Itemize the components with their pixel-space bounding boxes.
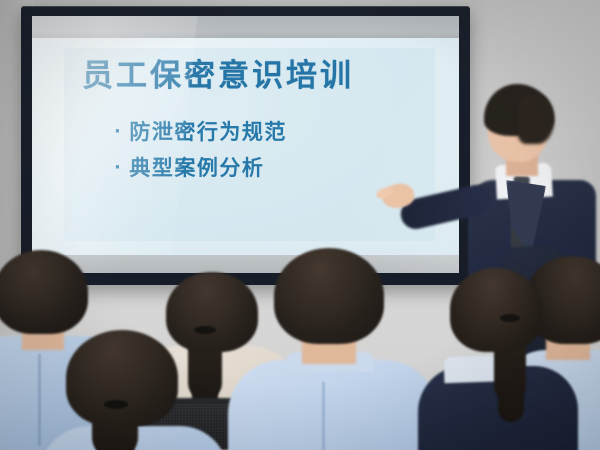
- screen-top-bar: [32, 16, 459, 38]
- presentation-slide: 员工保密意识培训 ·防泄密行为规范 ·典型案例分析: [32, 38, 459, 255]
- attendee-2-hair-tie: [104, 400, 128, 409]
- attendee-1-hair: [0, 250, 88, 334]
- display-screen: 员工保密意识培训 ·防泄密行为规范 ·典型案例分析: [32, 16, 459, 273]
- slide-bullet-item: ·防泄密行为规范: [114, 114, 287, 150]
- slide-bullet-list: ·防泄密行为规范 ·典型案例分析: [114, 114, 287, 186]
- attendee-1-shirt-seam: [38, 354, 41, 446]
- presentation-display: 员工保密意识培训 ·防泄密行为规范 ·典型案例分析: [21, 6, 470, 285]
- attendee-5-hair-tie: [500, 314, 520, 322]
- attendee-2-hair: [66, 330, 178, 426]
- attendee-2: [48, 330, 208, 450]
- slide-title: 员工保密意识培训: [82, 60, 354, 93]
- bullet-dot-icon: ·: [114, 117, 122, 148]
- attendee-4-shirt: [228, 360, 438, 450]
- slide-bullet-item: ·典型案例分析: [114, 150, 287, 186]
- slide-bullet-text: 防泄密行为规范: [129, 120, 287, 144]
- attendee-5-hair: [450, 268, 542, 352]
- training-room-photo: 员工保密意识培训 ·防泄密行为规范 ·典型案例分析: [0, 0, 600, 450]
- bullet-dot-icon: ·: [114, 153, 122, 184]
- attendee-5: [432, 268, 560, 450]
- presenter-hair-back: [518, 94, 554, 144]
- attendee-4-hair: [274, 248, 384, 344]
- slide-bullet-text: 典型案例分析: [129, 156, 264, 180]
- attendee-4: [258, 248, 408, 450]
- attendee-4-shirt-seam: [322, 382, 325, 450]
